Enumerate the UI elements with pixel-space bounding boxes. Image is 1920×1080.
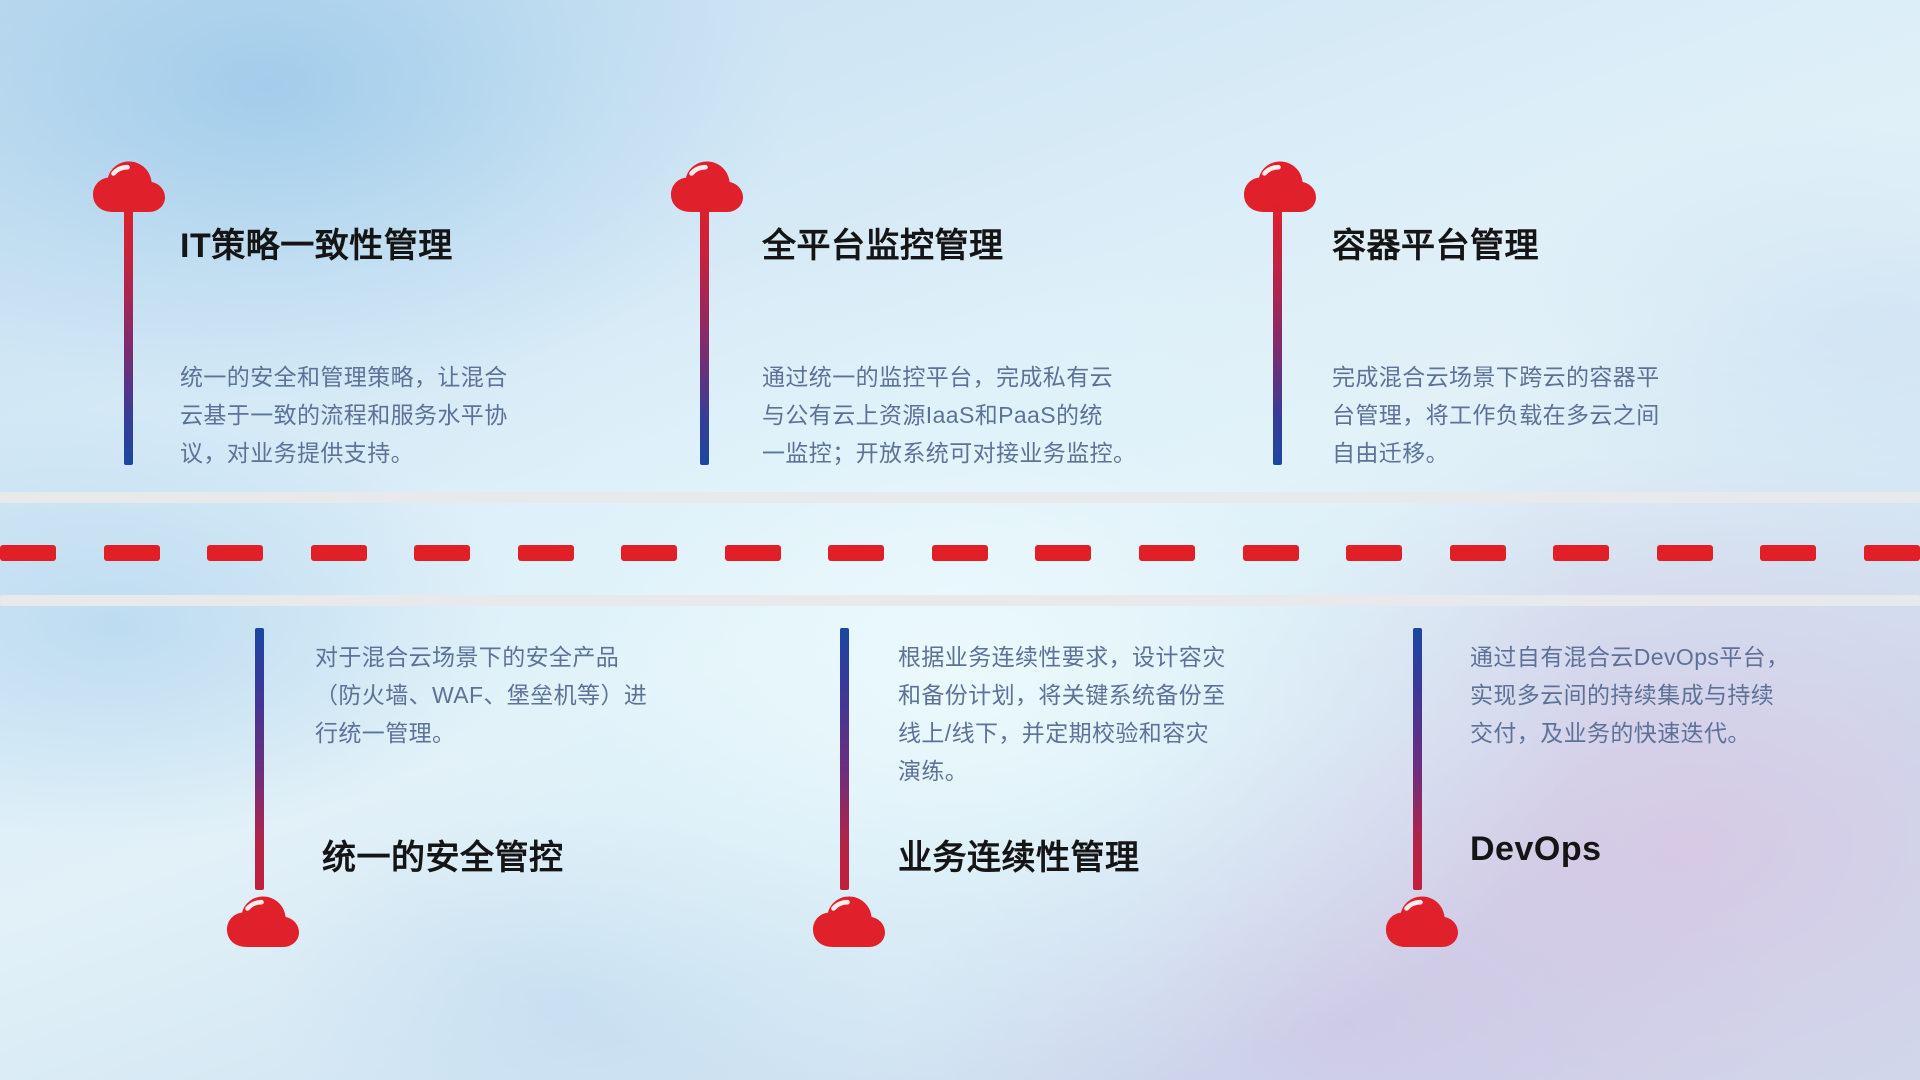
item-body: 通过自有混合云DevOps平台， 实现多云间的持续集成与持续 交付，及业务的快速… bbox=[1470, 638, 1910, 752]
road-dash bbox=[1243, 545, 1299, 561]
item-title: 容器平台管理 bbox=[1332, 218, 1539, 267]
item-body: 通过统一的监控平台，完成私有云 与公有云上资源IaaS和PaaS的统 一监控；开… bbox=[762, 358, 1212, 472]
road-dash bbox=[104, 545, 160, 561]
cloud-icon bbox=[812, 895, 886, 949]
road-dash bbox=[725, 545, 781, 561]
item-title: DevOps bbox=[1470, 830, 1602, 869]
road-dash bbox=[828, 545, 884, 561]
stem-line bbox=[700, 205, 709, 465]
road-edge-top bbox=[0, 492, 1920, 503]
road-dash bbox=[311, 545, 367, 561]
road-dash bbox=[518, 545, 574, 561]
road-dash bbox=[1035, 545, 1091, 561]
item-title: 业务连续性管理 bbox=[898, 830, 1140, 879]
stem-line bbox=[255, 628, 264, 890]
road-dash bbox=[1553, 545, 1609, 561]
road-dash bbox=[1346, 545, 1402, 561]
stem-line bbox=[124, 205, 133, 465]
item-title: 全平台监控管理 bbox=[762, 218, 1004, 267]
cloud-icon bbox=[226, 895, 300, 949]
item-body: 对于混合云场景下的安全产品 （防火墙、WAF、堡垒机等）进 行统一管理。 bbox=[315, 638, 745, 752]
road-dashes bbox=[0, 545, 1920, 561]
road-dash bbox=[207, 545, 263, 561]
road-dash bbox=[0, 545, 56, 561]
stem-line bbox=[1273, 205, 1282, 465]
road-dash bbox=[621, 545, 677, 561]
item-body: 完成混合云场景下跨云的容器平 台管理，将工作负载在多云之间 自由迁移。 bbox=[1332, 358, 1782, 472]
road-edge-bottom bbox=[0, 595, 1920, 606]
road-dash bbox=[1760, 545, 1816, 561]
road-dash bbox=[1450, 545, 1506, 561]
item-title: 统一的安全管控 bbox=[322, 830, 564, 879]
cloud-icon bbox=[1385, 895, 1459, 949]
road-dash bbox=[414, 545, 470, 561]
item-body: 根据业务连续性要求，设计容灾 和备份计划，将关键系统备份至 线上/线下，并定期校… bbox=[898, 638, 1338, 790]
stem-line bbox=[840, 628, 849, 890]
stem-line bbox=[1413, 628, 1422, 890]
road-dash bbox=[1657, 545, 1713, 561]
item-body: 统一的安全和管理策略，让混合 云基于一致的流程和服务水平协 议，对业务提供支持。 bbox=[180, 358, 610, 472]
road-dash bbox=[1864, 545, 1920, 561]
item-title: IT策略一致性管理 bbox=[180, 218, 453, 267]
road-dash bbox=[932, 545, 988, 561]
infographic-canvas: IT策略一致性管理 统一的安全和管理策略，让混合 云基于一致的流程和服务水平协 … bbox=[0, 0, 1920, 1080]
road-dash bbox=[1139, 545, 1195, 561]
